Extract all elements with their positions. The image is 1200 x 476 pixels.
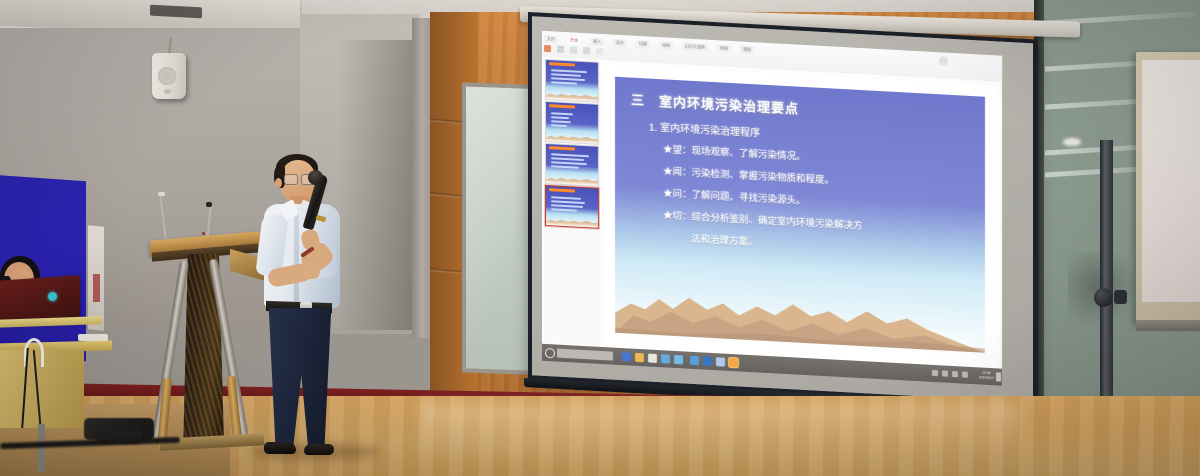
volume-icon[interactable] [952,371,958,377]
tab-review[interactable]: 审阅 [717,44,731,53]
tab-home[interactable]: 开始 [567,36,581,45]
tab-insert[interactable]: 插入 [590,37,604,46]
slide-bullet: ★望：现场观察、了解污染情况。 [663,141,806,163]
ime-icon[interactable] [962,372,968,378]
mail-icon[interactable] [661,354,670,363]
projection-screen: 文件 开始 插入 设计 切换 动画 幻灯片放映 审阅 视图 [528,12,1038,408]
router-device [78,334,108,341]
slide-bullet: ★问：了解问题、寻找污染源头。 [663,185,806,207]
speaker-tweeter [164,89,171,94]
clock-date: 2019/5/19 [979,375,994,380]
wall-speaker [152,53,186,99]
tab-slideshow[interactable]: 幻灯片放映 [682,42,708,51]
mic-indicator-light [202,232,205,235]
thumbnail-title-bar [549,188,575,192]
slide-thumbnail[interactable] [546,60,598,102]
slide-thumbnail[interactable] [546,102,598,144]
thumbnail-mountain-graphic [546,133,598,144]
thumbnail-title-bar [549,146,575,150]
font-icon[interactable] [557,46,564,53]
taskbar-search-input[interactable] [557,349,613,361]
slide-content: 三 室内环境污染治理要点 1. 室内环境污染治理程序 ★望：现场观察、了解污染情… [615,77,985,359]
whiteboard-adjust-knob[interactable] [1094,288,1113,307]
help-icon[interactable] [939,56,948,65]
slide-canvas[interactable]: 三 室内环境污染治理要点 1. 室内环境污染治理程序 ★望：现场观察、了解污染情… [602,64,998,371]
whiteboard-marker-tray [1136,320,1200,331]
red-wall-accent [93,274,100,302]
presenter-shoe-right [304,444,334,455]
edge-icon[interactable] [622,352,631,361]
file-explorer-icon[interactable] [635,353,644,362]
desk-leg [38,424,45,472]
mountain-graphic [615,279,985,353]
show-desktop-button[interactable] [996,372,1001,381]
mic-capsule-left [158,192,165,196]
powerpoint-window[interactable]: 文件 开始 插入 设计 切换 动画 幻灯片放映 审阅 视图 [542,31,1002,386]
store-icon[interactable] [648,353,657,362]
screen-surface: 文件 开始 插入 设计 切换 动画 幻灯片放映 审阅 视图 [532,16,1033,402]
whiteboard[interactable] [1136,52,1200,324]
ribbon-command-icons[interactable] [544,45,603,55]
slide-bullet: 法和治理方案。 [691,231,758,249]
slide-bullet: ★切：综合分析鉴别、确定室内环境污染解决方 [663,207,863,232]
slide-thumbnail[interactable] [546,144,598,186]
browser-icon[interactable] [674,355,683,364]
start-button-icon[interactable] [545,348,555,359]
presenter-shoe-left [264,442,296,454]
presenter-trousers [266,308,334,448]
shirt-placket [294,208,299,304]
excel-icon[interactable] [716,357,725,366]
presenter-left-hand [302,262,320,279]
laptop-logo-icon [48,292,57,301]
network-icon[interactable] [942,370,948,376]
whiteboard-surface[interactable] [1142,60,1200,302]
slide-title: 三 室内环境污染治理要点 [631,90,799,118]
powerpoint-icon[interactable] [729,358,738,367]
paragraph-icon[interactable] [570,46,577,53]
tab-animations[interactable]: 动画 [659,41,673,50]
thumbnail-title-bar [549,62,575,66]
taskbar-clock[interactable]: 10:58 2019/5/19 [979,370,994,380]
presenter-ear [275,178,282,188]
thumbnail-title-bar [549,104,575,108]
slide-thumbnail-panel[interactable] [544,59,600,346]
lecture-hall-photo: 文件 开始 插入 设计 切换 动画 幻灯片放映 审阅 视图 [0,0,1200,476]
tab-design[interactable]: 设计 [613,39,627,48]
slide-subtitle: 1. 室内环境污染治理程序 [649,119,760,140]
tab-view[interactable]: 视图 [740,45,754,54]
system-tray[interactable] [932,370,968,378]
shapes-icon[interactable] [583,47,590,54]
floor-light-reflection [420,402,1020,464]
thumbnail-mountain-graphic [546,217,598,228]
lectern-leg-left [152,260,189,439]
word-icon[interactable] [703,356,712,365]
pen-icon[interactable] [932,370,938,376]
tab-transitions[interactable]: 切换 [636,40,650,49]
wechat-icon[interactable] [690,356,699,365]
paste-icon[interactable] [544,45,551,52]
thumbnail-mountain-graphic [546,175,598,186]
arrange-icon[interactable] [596,48,603,55]
glass-light-reflection [1063,138,1081,146]
slide-bullet: ★闻：污染检测、掌握污染物质和程度。 [663,163,834,186]
presenter [248,150,368,460]
thumbnail-mountain-graphic [546,91,598,102]
tab-file[interactable]: 文件 [544,35,558,44]
slide-thumbnail-selected[interactable] [546,186,598,228]
speaker-grille-icon [158,67,176,85]
mic-capsule-right [206,202,212,207]
whiteboard-bracket [1114,290,1127,304]
